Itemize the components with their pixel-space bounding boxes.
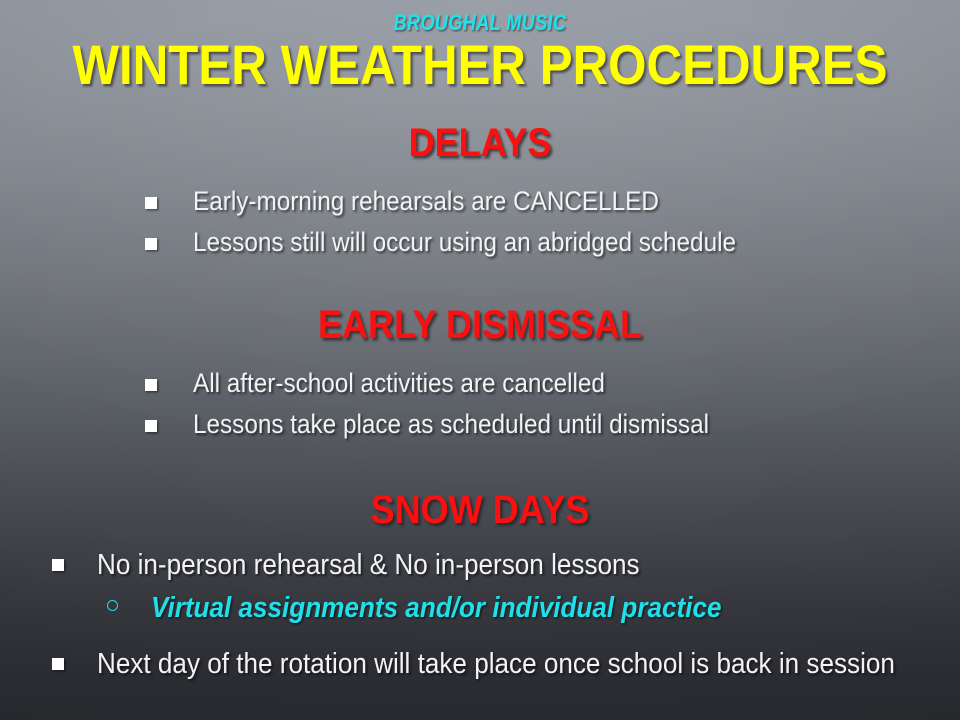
list-item: Lessons still will occur using an abridg… (145, 227, 796, 259)
list-item-label: Lessons take place as scheduled until di… (193, 409, 709, 441)
section-heading-early-dismissal: EARLY DISMISSAL (48, 303, 912, 348)
list-item-label: Next day of the rotation will take place… (97, 647, 895, 681)
square-bullet-icon (145, 238, 157, 250)
square-bullet-icon (52, 658, 64, 670)
list-item: No in-person rehearsal & No in-person le… (52, 548, 932, 582)
square-bullet-icon (52, 559, 64, 571)
list-item-label: All after-school activities are cancelle… (193, 368, 605, 400)
list-item: All after-school activities are cancelle… (145, 368, 766, 400)
list-item: Next day of the rotation will take place… (52, 647, 932, 681)
list-item-nested-label: Virtual assignments and/or individual pr… (151, 591, 721, 625)
bullet-list-early-dismissal: All after-school activities are cancelle… (145, 368, 766, 450)
list-item-label: Early-morning rehearsals are CANCELLED (193, 186, 659, 218)
bullet-list-snow-days: No in-person rehearsal & No in-person le… (52, 548, 932, 691)
circle-bullet-icon (107, 600, 118, 611)
list-item-label: No in-person rehearsal & No in-person le… (97, 548, 640, 582)
list-item-label: Lessons still will occur using an abridg… (193, 227, 736, 259)
slide-title: WINTER WEATHER PROCEDURES (58, 36, 903, 95)
list-item: Early-morning rehearsals are CANCELLED (145, 186, 796, 218)
square-bullet-icon (145, 197, 157, 209)
section-heading-snow-days: SNOW DAYS (48, 488, 912, 533)
bullet-list-delays: Early-morning rehearsals are CANCELLED L… (145, 186, 796, 268)
section-heading-delays: DELAYS (48, 121, 912, 166)
square-bullet-icon (145, 420, 157, 432)
list-item-nested: Virtual assignments and/or individual pr… (107, 591, 932, 625)
list-item: Lessons take place as scheduled until di… (145, 409, 766, 441)
presentation-slide: BROUGHAL MUSIC WINTER WEATHER PROCEDURES… (0, 0, 960, 720)
square-bullet-icon (145, 379, 157, 391)
